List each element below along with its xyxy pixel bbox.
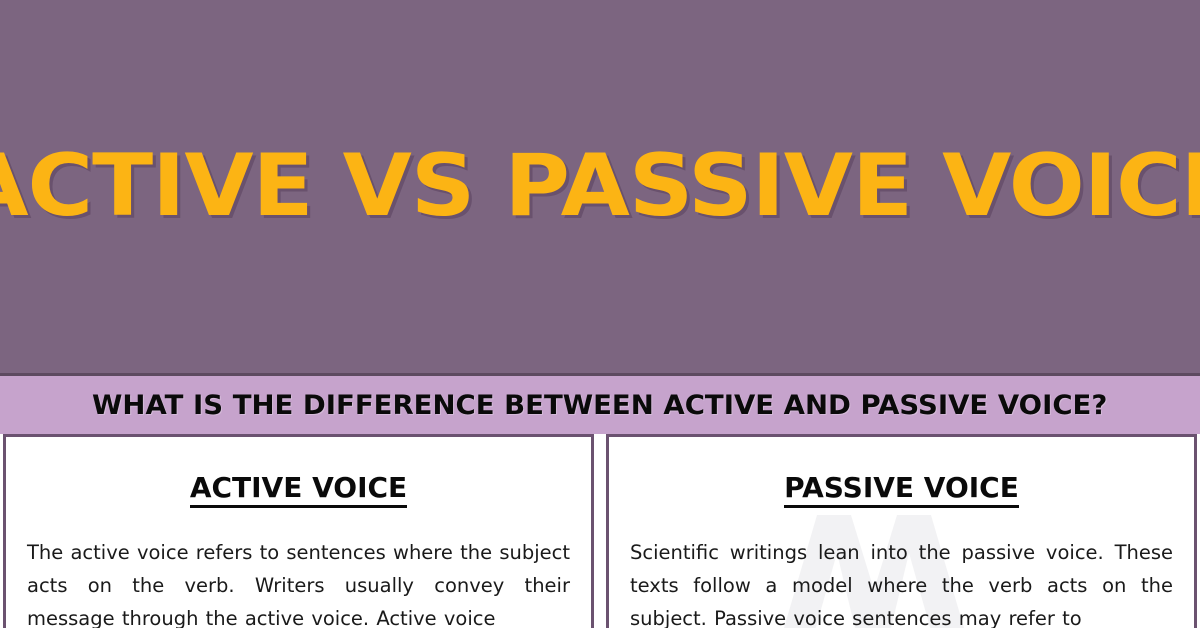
passive-voice-card: PASSIVE VOICE Scientific writings lean i… [606,434,1197,628]
infographic-root: ACTIVE VS PASSIVE VOICE WHAT IS THE DIFF… [0,0,1200,628]
comparison-columns: ACTIVE VOICE The active voice refers to … [0,434,1200,628]
passive-voice-body: Scientific writings lean into the passiv… [630,536,1173,628]
active-voice-body: The active voice refers to sentences whe… [27,536,570,628]
page-title: ACTIVE VS PASSIVE VOICE [0,143,1200,233]
question-band: WHAT IS THE DIFFERENCE BETWEEN ACTIVE AN… [0,376,1200,434]
question-text: WHAT IS THE DIFFERENCE BETWEEN ACTIVE AN… [92,392,1107,419]
active-voice-heading: ACTIVE VOICE [6,474,591,508]
active-voice-card: ACTIVE VOICE The active voice refers to … [3,434,594,628]
passive-voice-heading-text: PASSIVE VOICE [784,474,1019,508]
passive-voice-heading: PASSIVE VOICE [609,474,1194,508]
hero-banner: ACTIVE VS PASSIVE VOICE [0,0,1200,375]
active-voice-heading-text: ACTIVE VOICE [190,474,407,508]
